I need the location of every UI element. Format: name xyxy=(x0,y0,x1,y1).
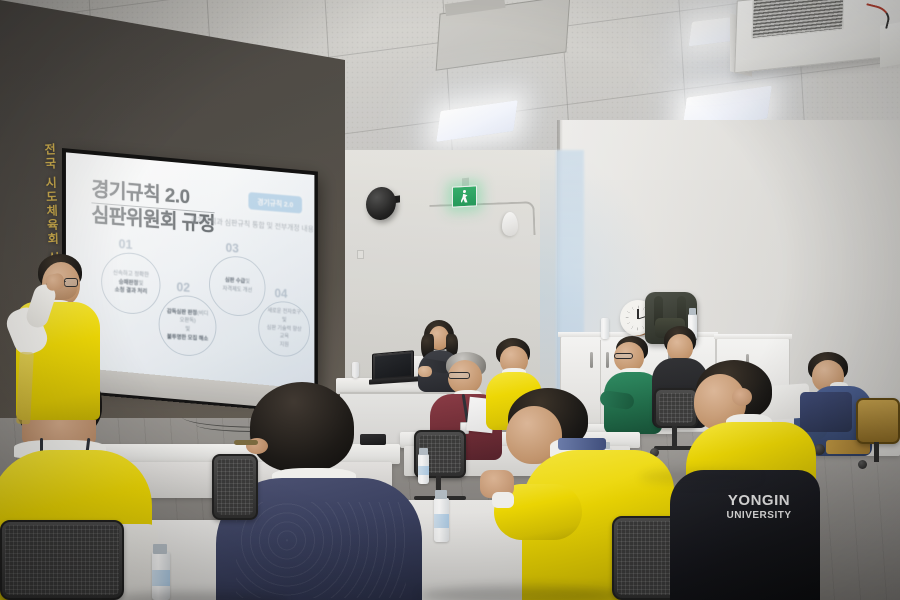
wall-sensor-icon xyxy=(502,212,518,236)
slide-item-number: 01 xyxy=(119,236,133,252)
person-presenter xyxy=(2,252,122,437)
bottle-cap xyxy=(435,490,447,499)
glasses-icon xyxy=(614,353,633,359)
chair-caster xyxy=(858,460,867,469)
smartphone[interactable] xyxy=(360,434,386,445)
laptop-display xyxy=(375,353,411,378)
jacket-brand-line2: UNIVERSITY xyxy=(704,510,814,523)
exit-sign-icon xyxy=(452,185,477,207)
bottle-cap xyxy=(689,308,696,315)
seminar-room-photo: 전국 시도체육회 심판강습회 경기규칙 2.0 심판위원회 규정 경기규칙과 심… xyxy=(0,0,900,600)
slide-circle-item: 심판 수급및 자격제도 개선 xyxy=(209,254,265,317)
chair-back-tan[interactable] xyxy=(856,398,900,444)
slide-item-number: 02 xyxy=(176,279,190,294)
cabinet-handle[interactable] xyxy=(590,352,593,368)
shadow xyxy=(420,586,620,600)
office-chair-back[interactable] xyxy=(0,520,124,600)
black-jacket: YONGIN UNIVERSITY xyxy=(670,470,820,600)
slide-badge: 경기규칙 2.0 xyxy=(248,192,302,214)
office-chair-back[interactable] xyxy=(212,454,258,520)
running-person-icon xyxy=(461,190,469,203)
slide-title: 경기규칙 2.0 심판위원회 규정 xyxy=(91,179,214,237)
slide-item-number: 03 xyxy=(226,240,239,255)
chair-post xyxy=(874,442,879,462)
slide-item-text: 감독심판 판정(비디오판독) 및 불투명한 모집 해소 xyxy=(160,307,216,344)
jacket-brand-line1: YONGIN xyxy=(704,492,814,511)
slide-item-text: 심판 수급및 자격제도 개선 xyxy=(217,276,257,295)
ear xyxy=(732,388,752,406)
glasses-icon xyxy=(448,372,470,379)
head xyxy=(667,334,693,361)
bottle-label xyxy=(434,514,449,528)
chair-mesh xyxy=(217,459,253,515)
glass-cup xyxy=(352,362,359,378)
hair xyxy=(250,382,354,472)
ac-mount-bracket xyxy=(880,22,900,68)
bottle-cap xyxy=(153,544,167,554)
chair-mesh xyxy=(5,525,119,595)
slide-circle-item: 감독심판 판정(비디오판독) 및 불투명한 모집 해소 xyxy=(159,294,217,357)
slide-item-number: 04 xyxy=(274,286,287,301)
cabinet-top xyxy=(714,334,792,339)
shadow xyxy=(640,470,760,484)
wall-outlet-plate xyxy=(357,250,364,259)
fabric-pattern xyxy=(236,502,406,598)
glasses-temple xyxy=(234,440,258,445)
wall-conduit xyxy=(429,201,535,239)
slide-circle-item: 새로운 전자호구 및 심판 기술력 향상 교육 지원 xyxy=(258,300,310,358)
slide-item-text: 새로운 전자호구 및 심판 기술력 향상 교육 지원 xyxy=(259,307,309,351)
bottle-label xyxy=(152,570,170,586)
inner-collar-blue xyxy=(558,438,606,450)
cuff-white xyxy=(492,492,514,508)
